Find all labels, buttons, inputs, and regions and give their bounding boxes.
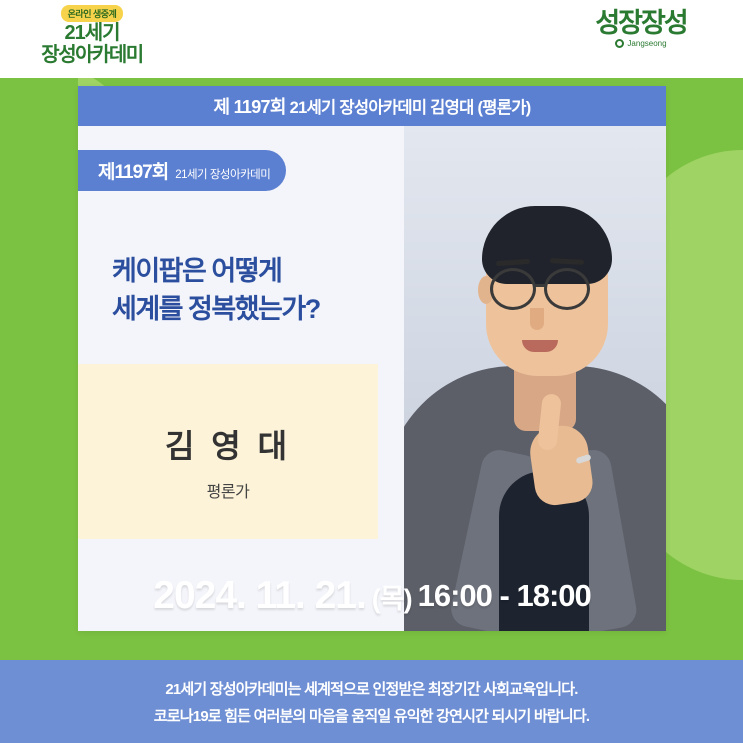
circle-icon — [615, 39, 624, 48]
glasses-icon-left — [490, 268, 536, 310]
poster-root: 온라인 생중계 21세기 장성아카데미 성장장성 Jangseong 제 119… — [0, 0, 743, 743]
card-header: 제 1197회 21세기 장성아카데미 김영대 (평론가) — [78, 86, 666, 126]
logo-left-line2: 장성아카데미 — [22, 44, 162, 66]
logo-right-subtitle-row: Jangseong — [561, 39, 721, 48]
event-datetime: 2024. 11. 21. (목) 16:00 - 18:00 — [78, 560, 666, 632]
card-header-round: 제 1197회 — [213, 93, 285, 119]
lecture-title-line2: 세계를 정복했는가? — [112, 290, 402, 328]
glasses-bridge — [535, 284, 546, 287]
logo-right-subtitle: Jangseong — [627, 39, 666, 48]
speaker-name: 김 영 대 — [78, 426, 378, 466]
footer-notice: 21세기 장성아카데미는 세계적으로 인정받은 최장기간 사회교육입니다. 코로… — [0, 660, 743, 743]
logo-seongjang-jangseong: 성장장성 Jangseong — [561, 8, 721, 74]
event-time: 16:00 - 18:00 — [418, 578, 591, 614]
logo-badge-online-live: 온라인 생중계 — [61, 5, 124, 22]
footer-line-2: 코로나19로 힘든 여러분의 마음을 움직일 유익한 강연시간 되시기 바랍니다… — [154, 705, 589, 726]
event-date: 2024. 11. 21. — [153, 574, 366, 618]
speaker-role: 평론가 — [78, 478, 378, 502]
card-body: 제1197회 21세기 장성아카데미 케이팝은 어떻게 세계를 정복했는가? 김… — [78, 126, 666, 631]
lecture-title: 케이팝은 어떻게 세계를 정복했는가? — [112, 252, 402, 328]
speaker-photo — [404, 126, 666, 631]
round-badge-subtitle: 21세기 장성아카데미 — [175, 166, 270, 182]
round-badge: 제1197회 21세기 장성아카데미 — [78, 150, 286, 191]
logo-jangseong-academy: 온라인 생중계 21세기 장성아카데미 — [22, 4, 162, 82]
footer-line-1: 21세기 장성아카데미는 세계적으로 인정받은 최장기간 사회교육입니다. — [165, 678, 577, 699]
glasses-icon-right — [544, 268, 590, 310]
photo-nose — [530, 308, 544, 330]
lecture-card: 제 1197회 21세기 장성아카데미 김영대 (평론가) 제1197회 21세… — [78, 86, 666, 631]
logo-right-text: 성장장성 — [561, 8, 721, 38]
logo-left-line1: 21세기 — [22, 23, 162, 44]
event-weekday: (목) — [372, 577, 412, 616]
lecture-title-line1: 케이팝은 어떻게 — [112, 252, 402, 290]
background-green-left-strip — [0, 78, 78, 660]
round-badge-number: 제1197회 — [98, 157, 168, 184]
card-header-rest: 21세기 장성아카데미 김영대 (평론가) — [290, 94, 531, 118]
speaker-info: 김 영 대 평론가 — [78, 426, 378, 502]
